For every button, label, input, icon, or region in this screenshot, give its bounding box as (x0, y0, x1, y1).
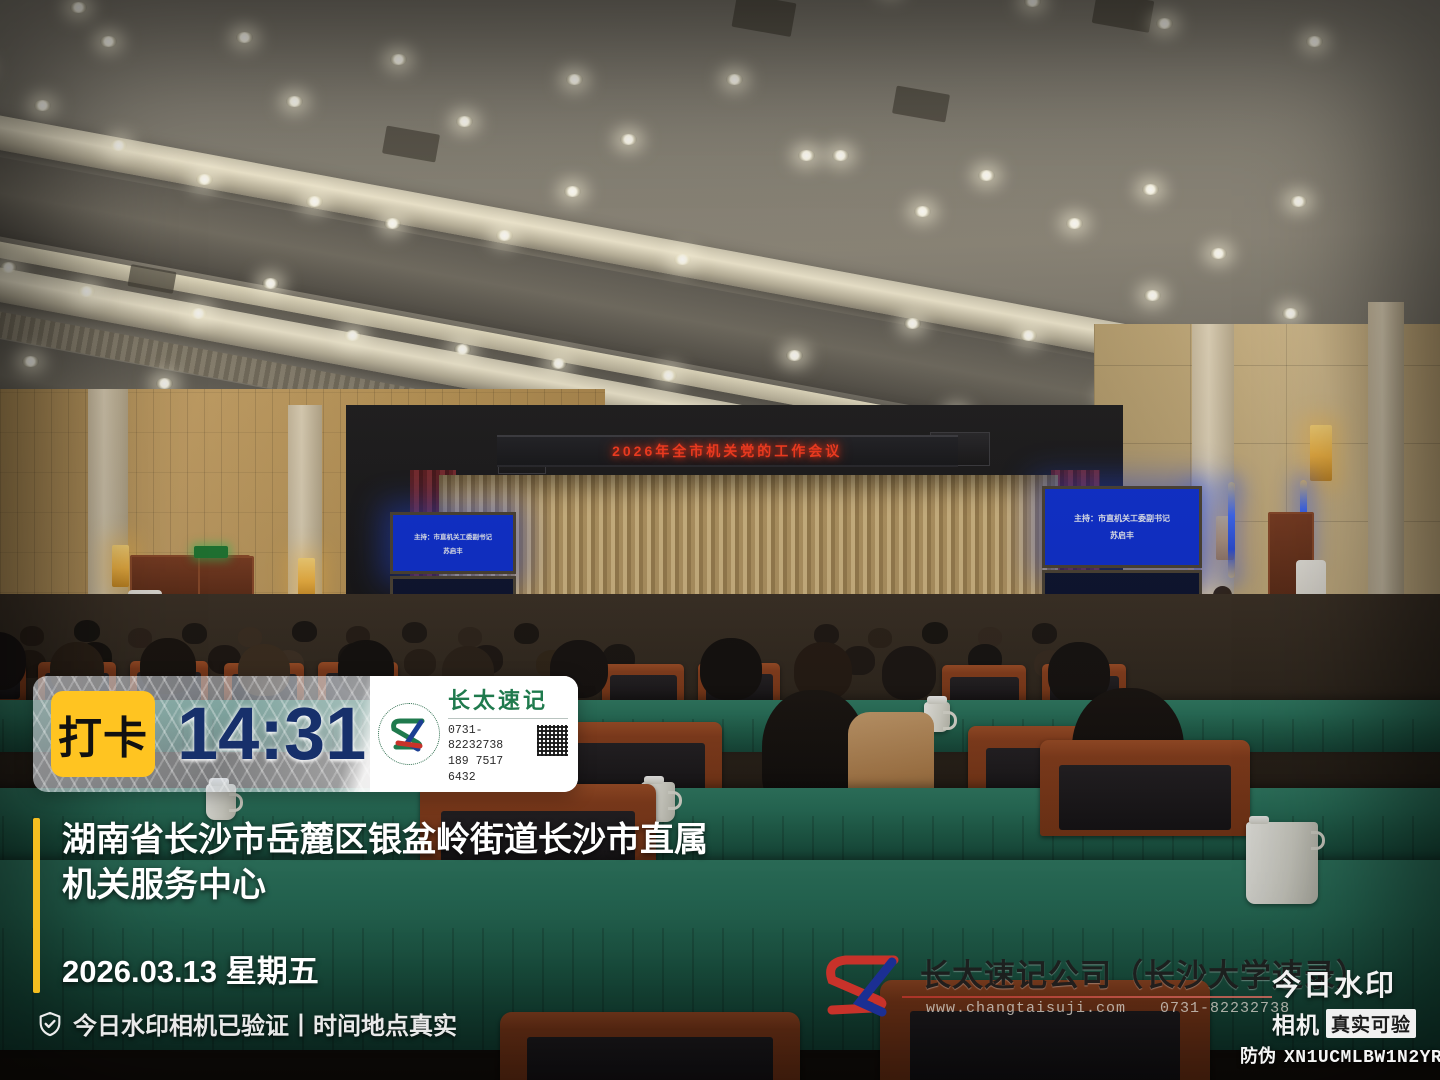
stage-banner-text: 2026年全市机关党的工作会议 (612, 441, 842, 461)
chair (500, 1012, 800, 1080)
exit-sign (194, 546, 228, 558)
teacup (1246, 822, 1318, 904)
punch-card-watermark: 打卡 14:31 长太速记 0731-82232738 189 7517 643… (33, 676, 578, 792)
screen-line-1: 主持：市直机关工委副书记 (1074, 513, 1170, 524)
company-logo-card: 长太速记 0731-82232738 189 7517 6432 (370, 676, 578, 792)
wall-sconce-light (1310, 425, 1332, 481)
screen-line-2: 苏启丰 (1110, 530, 1134, 541)
verified-row: 今日水印相机已验证丨时间地点真实 (36, 1006, 457, 1041)
location-line-2: 机关服务中心 (62, 863, 862, 908)
app-verify-tag: 真实可验 (1326, 1009, 1416, 1038)
punch-time: 14:31 (177, 697, 366, 771)
changtai-sz-logo-icon (820, 952, 912, 1029)
date-text: 2026.03.13 星期五 (62, 946, 319, 991)
projection-screen-left: 主持：市直机关工委副书记 苏启丰 (390, 512, 516, 574)
stage-led-banner: 2026年全市机关党的工作会议 (497, 435, 958, 466)
chair (1040, 740, 1250, 836)
led-strip (1228, 482, 1235, 578)
app-name-line-1: 今日水印 (1272, 962, 1440, 1004)
logo-mobile: 189 7517 6432 (448, 754, 531, 785)
brand-contact: www.changtaisuji.com 0731-82232738 (926, 1000, 1290, 1017)
verified-text: 今日水印相机已验证丨时间地点真实 (73, 1006, 457, 1041)
anti-counterfeit-code: XN1UCMLBW1N2YR (1284, 1048, 1440, 1068)
screenshot-root: 2026年全市机关党的工作会议 主持：市直机关工委副书记 苏启丰 主持：市直机关… (0, 0, 1440, 1080)
company-branding-overlay: 长太速记公司（长沙大学速录） www.changtaisuji.com 0731… (808, 944, 1348, 1032)
shield-check-icon (36, 1010, 64, 1038)
logo-landline: 0731-82232738 (448, 723, 531, 754)
wall-sconce-light (112, 545, 129, 587)
conference-hall-photo: 2026年全市机关党的工作会议 主持：市直机关工委副书记 苏启丰 主持：市直机关… (0, 0, 1440, 1080)
anti-counterfeit-label: 防伪 (1240, 1042, 1276, 1068)
brand-divider (902, 996, 1272, 998)
brand-tel: 0731-82232738 (1160, 1000, 1290, 1017)
logo-company-name: 长太速记 (448, 683, 568, 719)
screen-line-1: 主持：市直机关工委副书记 (414, 531, 492, 541)
location-text: 湖南省长沙市岳麓区银盆岭街道长沙市直属 机关服务中心 (62, 818, 862, 908)
app-watermark-badge: 今日水印 相机 真实可验 (1272, 962, 1440, 1040)
punch-in-badge: 打卡 (51, 691, 155, 777)
qr-code-icon (537, 725, 568, 756)
changtai-seal-icon (378, 703, 440, 765)
screen-line-2: 苏启丰 (443, 545, 463, 555)
location-line-1: 湖南省长沙市岳麓区银盆岭街道长沙市直属 (62, 818, 862, 863)
app-name-line-2: 相机 (1272, 1006, 1320, 1040)
accent-bar (33, 818, 40, 993)
brand-website: www.changtaisuji.com (926, 1000, 1126, 1017)
anti-counterfeit-row: 防伪 XN1UCMLBW1N2YR (1240, 1042, 1440, 1068)
projection-screen-right: 主持：市直机关工委副书记 苏启丰 (1042, 486, 1202, 568)
